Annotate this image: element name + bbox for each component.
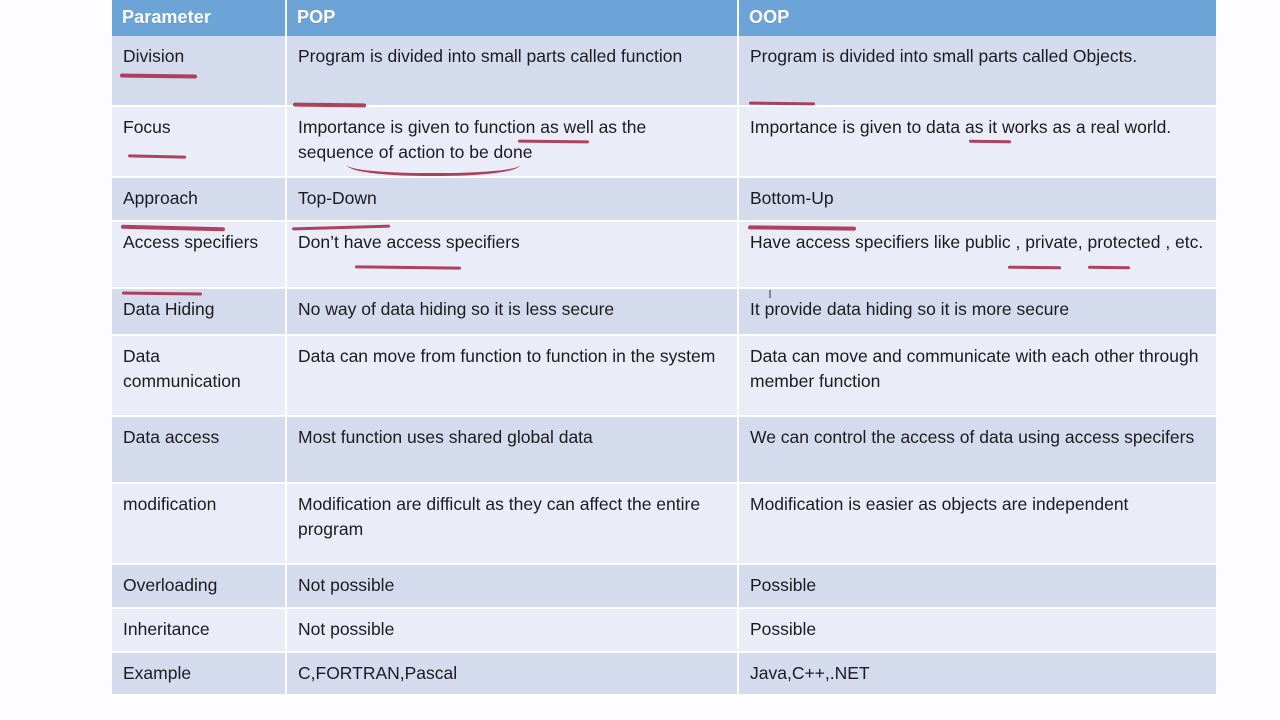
cell-parameter: Overloading	[112, 564, 286, 608]
screenshot-canvas: Parameter POP OOP Division Program is di…	[0, 0, 1280, 720]
cell-pop: Most function uses shared global data	[286, 416, 738, 483]
table-row: Data Hiding No way of data hiding so it …	[112, 288, 1216, 335]
cell-oop: Program is divided into small parts call…	[738, 36, 1216, 106]
table-row: Approach Top-Down Bottom-Up	[112, 177, 1216, 221]
cell-pop: Don’t have access specifiers	[286, 221, 738, 288]
pop-vs-oop-comparison-table: Parameter POP OOP Division Program is di…	[112, 0, 1216, 696]
cell-parameter: Division	[112, 36, 286, 106]
cell-pop: No way of data hiding so it is less secu…	[286, 288, 738, 335]
table-row: Data access Most function uses shared gl…	[112, 416, 1216, 483]
cell-pop: Data can move from function to function …	[286, 335, 738, 416]
cell-oop: Importance is given to data as it works …	[738, 106, 1216, 177]
cell-parameter: Data Hiding	[112, 288, 286, 335]
cell-parameter: modification	[112, 483, 286, 564]
cell-pop: Top-Down	[286, 177, 738, 221]
table-row: modification Modification are difficult …	[112, 483, 1216, 564]
column-header-pop: POP	[286, 0, 738, 36]
cell-oop: Bottom-Up	[738, 177, 1216, 221]
table-body: Division Program is divided into small p…	[112, 36, 1216, 695]
cell-oop: Data can move and communicate with each …	[738, 335, 1216, 416]
cell-pop: Program is divided into small parts call…	[286, 36, 738, 106]
cell-oop: Modification is easier as objects are in…	[738, 483, 1216, 564]
table-header-row: Parameter POP OOP	[112, 0, 1216, 36]
table-row: Overloading Not possible Possible	[112, 564, 1216, 608]
cell-oop: Java,C++,.NET	[738, 652, 1216, 696]
text-cursor-caret	[769, 290, 771, 298]
column-header-parameter: Parameter	[112, 0, 286, 36]
table-row: Data communication Data can move from fu…	[112, 335, 1216, 416]
cell-oop: It provide data hiding so it is more sec…	[738, 288, 1216, 335]
cell-parameter: Access specifiers	[112, 221, 286, 288]
table-row: Inheritance Not possible Possible	[112, 608, 1216, 652]
cell-parameter: Focus	[112, 106, 286, 177]
cell-parameter: Inheritance	[112, 608, 286, 652]
cell-oop: Possible	[738, 564, 1216, 608]
cell-pop: Not possible	[286, 608, 738, 652]
cell-parameter: Data communication	[112, 335, 286, 416]
cell-pop: Importance is given to function as well …	[286, 106, 738, 177]
table-row: Example C,FORTRAN,Pascal Java,C++,.NET	[112, 652, 1216, 696]
table-row: Focus Importance is given to function as…	[112, 106, 1216, 177]
cell-parameter: Example	[112, 652, 286, 696]
cell-pop: C,FORTRAN,Pascal	[286, 652, 738, 696]
cell-oop: We can control the access of data using …	[738, 416, 1216, 483]
cell-oop: Possible	[738, 608, 1216, 652]
cell-oop: Have access specifiers like public , pri…	[738, 221, 1216, 288]
table-row: Access specifiers Don’t have access spec…	[112, 221, 1216, 288]
cell-parameter: Data access	[112, 416, 286, 483]
column-header-oop: OOP	[738, 0, 1216, 36]
table-header: Parameter POP OOP	[112, 0, 1216, 36]
cell-pop: Modification are difficult as they can a…	[286, 483, 738, 564]
cell-parameter: Approach	[112, 177, 286, 221]
cell-pop: Not possible	[286, 564, 738, 608]
table-row: Division Program is divided into small p…	[112, 36, 1216, 106]
